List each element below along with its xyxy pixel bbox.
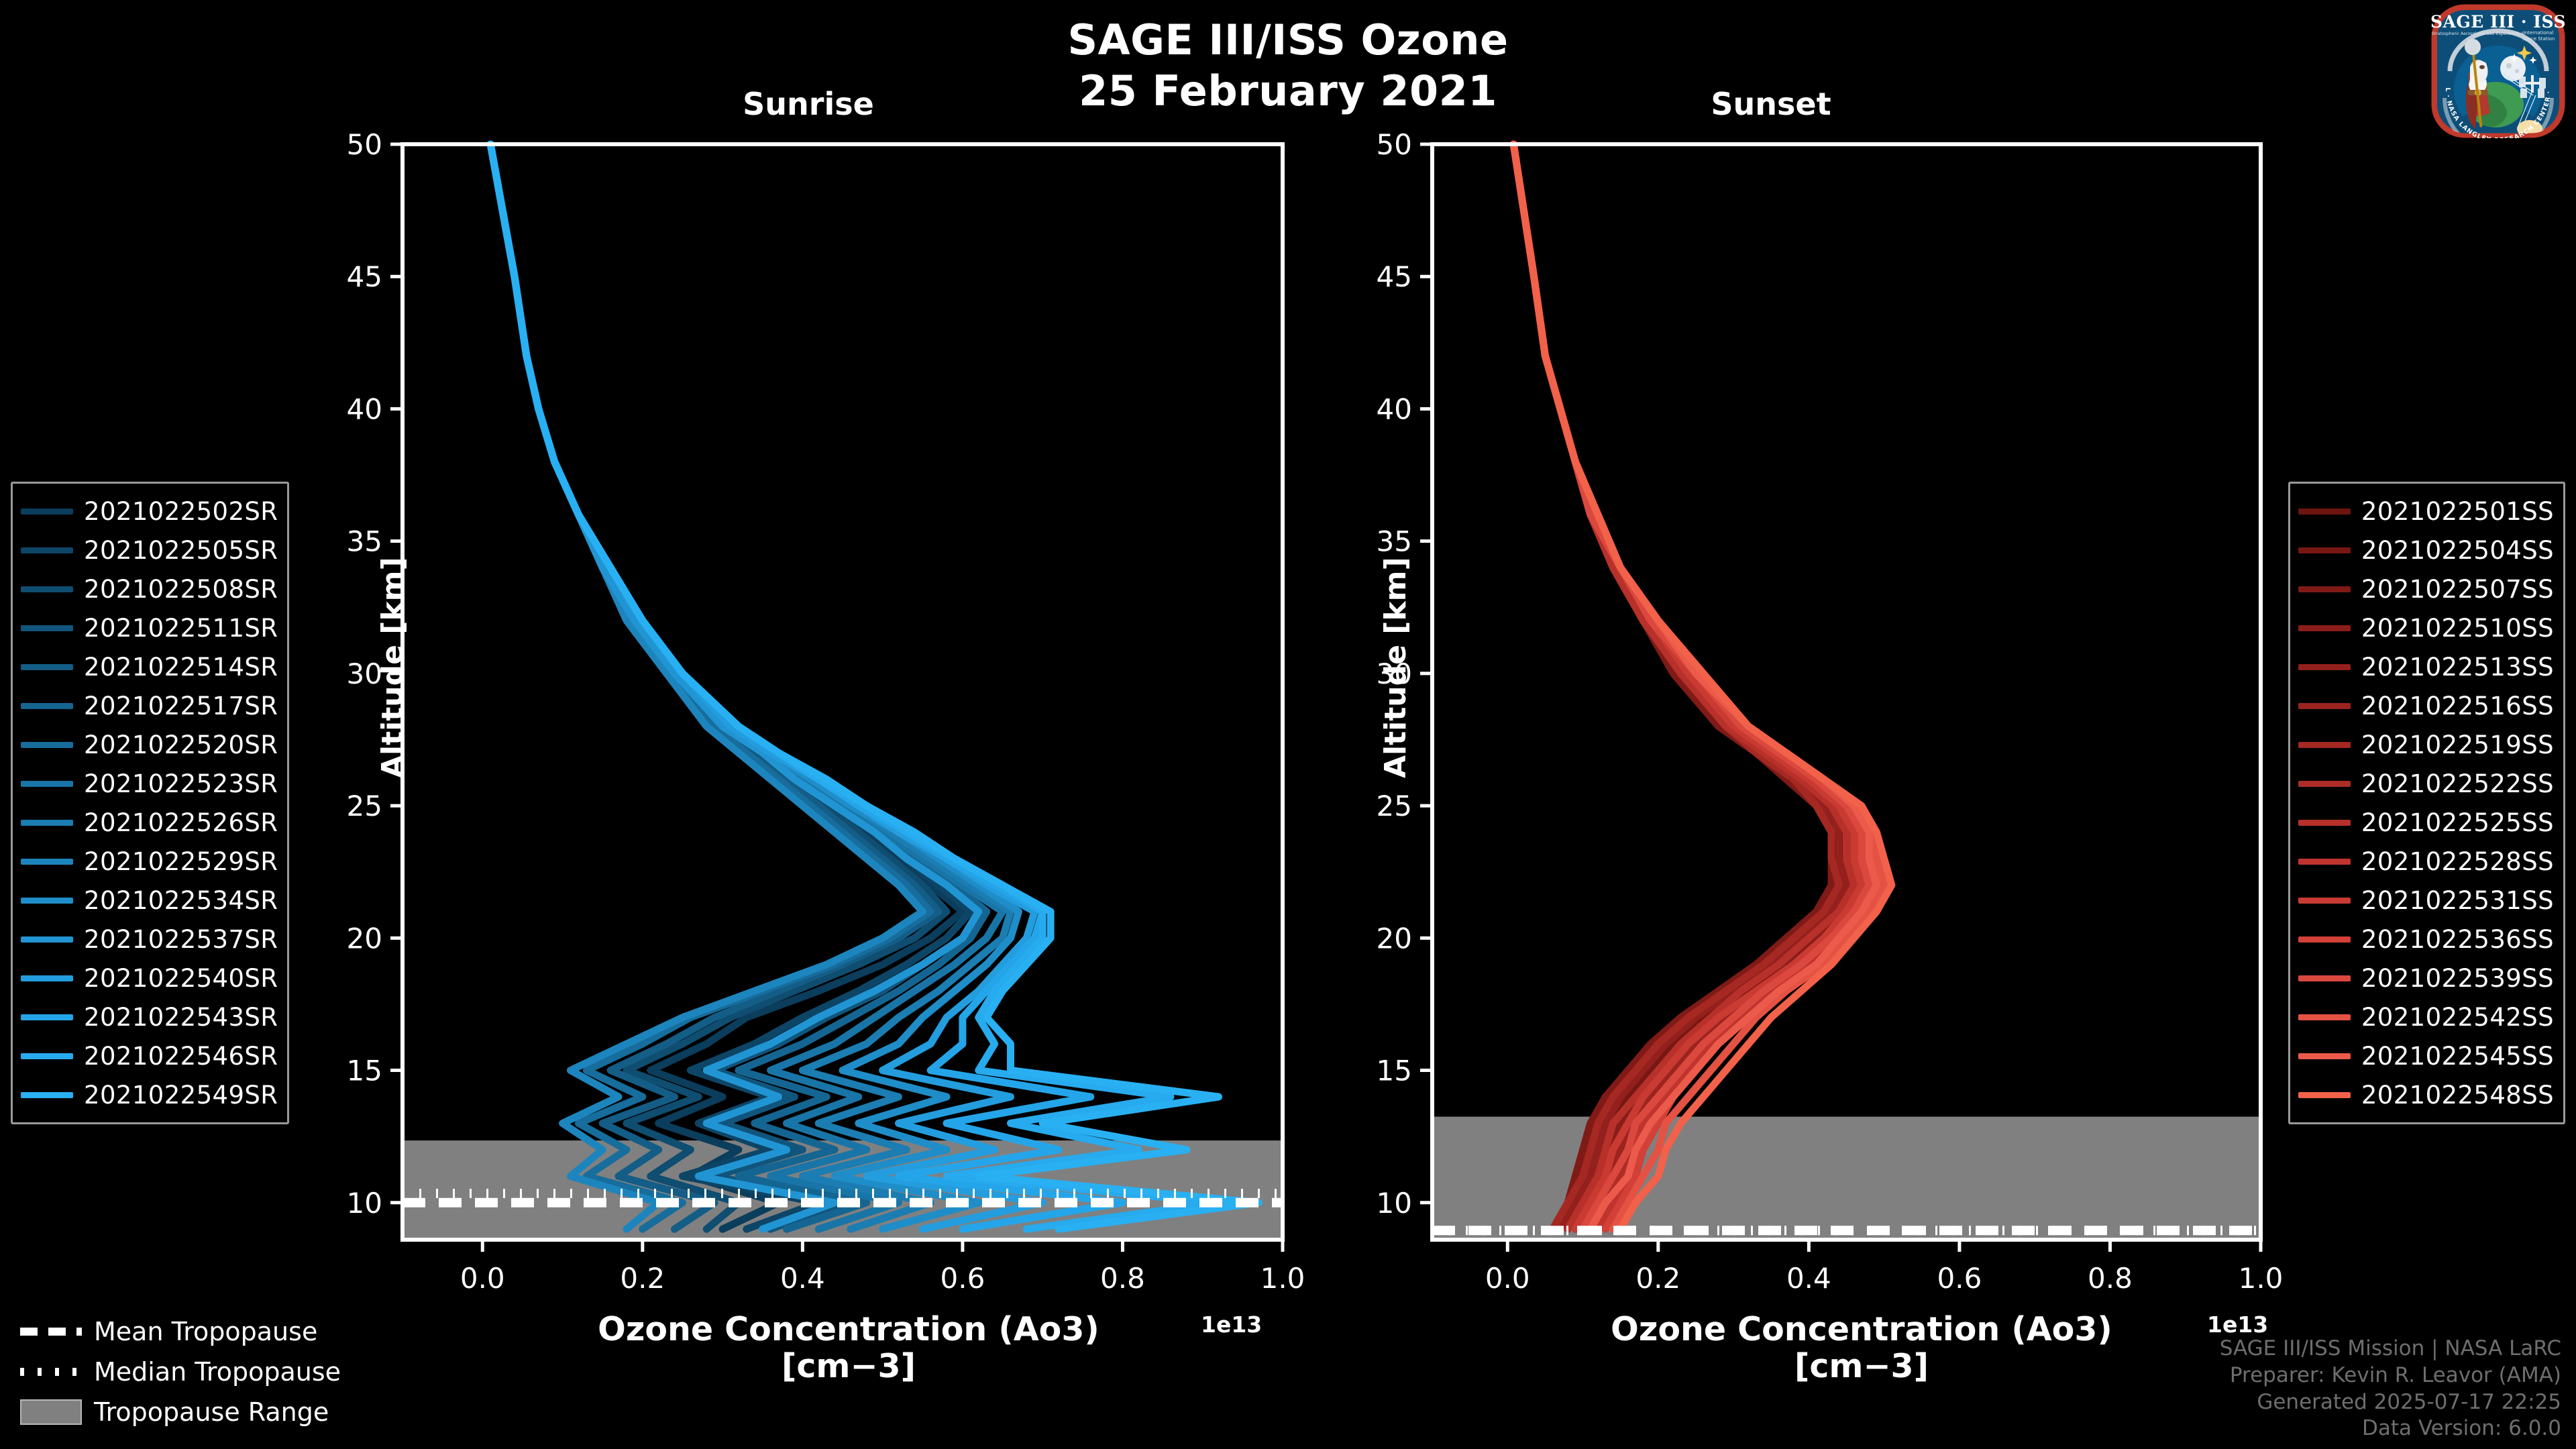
legend-color-swatch bbox=[2298, 781, 2351, 787]
y-tick-label: 15 bbox=[1377, 1055, 1412, 1087]
tropopause-legend-label: Mean Tropopause bbox=[94, 1317, 317, 1346]
legend-color-swatch bbox=[2298, 820, 2351, 826]
y-tick-label: 10 bbox=[347, 1187, 382, 1220]
legend-item-label: 2021022522SS bbox=[2361, 769, 2554, 798]
legend-color-swatch bbox=[2298, 508, 2351, 515]
x-tick-label: 0.6 bbox=[1937, 1262, 1982, 1295]
legend-sunset-item[interactable]: 2021022542SS bbox=[2298, 998, 2554, 1036]
credits-line-3: Generated 2025-07-17 22:25 bbox=[2220, 1389, 2561, 1416]
legend-item-label: 2021022549SR bbox=[84, 1081, 278, 1110]
legend-sunrise-item[interactable]: 2021022508SR bbox=[21, 570, 278, 608]
y-tick-label: 35 bbox=[347, 525, 382, 558]
legend-color-swatch bbox=[2298, 936, 2351, 943]
legend-item-label: 2021022534SR bbox=[84, 886, 278, 915]
y-tick-label: 25 bbox=[347, 790, 382, 822]
legend-sunset-item[interactable]: 2021022510SS bbox=[2298, 608, 2554, 647]
legend-item-label: 2021022511SR bbox=[84, 614, 278, 643]
patch-subtitle-right-line2: Space Station bbox=[2522, 36, 2555, 42]
patch-subtitle-left: Stratospheric Aerosol and Gas Experiment… bbox=[2432, 32, 2525, 36]
legend-color-swatch bbox=[21, 586, 73, 592]
legend-sunset-item[interactable]: 2021022531SS bbox=[2298, 881, 2554, 920]
legend-color-swatch bbox=[21, 820, 73, 826]
tropopause-range-swatch bbox=[17, 1399, 85, 1425]
legend-sunrise-item[interactable]: 2021022520SR bbox=[21, 725, 278, 764]
legend-color-swatch bbox=[2298, 547, 2351, 553]
legend-sunrise-item[interactable]: 2021022514SR bbox=[21, 647, 278, 686]
x-axis-label-right-line2: [cm−3] bbox=[1794, 1347, 1929, 1385]
legend-item-label: 2021022529SR bbox=[84, 847, 278, 876]
x-axis-offset-right: 1e13 bbox=[2207, 1311, 2268, 1338]
y-tick-label: 45 bbox=[347, 260, 382, 293]
legend-item-label: 2021022526SR bbox=[84, 808, 278, 837]
legend-sunrise-item[interactable]: 2021022505SR bbox=[21, 531, 278, 570]
legend-sunset-item[interactable]: 2021022545SS bbox=[2298, 1036, 2554, 1075]
credits-block: SAGE III/ISS Mission | NASA LaRC Prepare… bbox=[2220, 1336, 2561, 1442]
y-tick-label: 15 bbox=[347, 1055, 382, 1087]
legend-item-label: 2021022517SR bbox=[84, 692, 278, 720]
x-tick-label: 1.0 bbox=[1260, 1262, 1305, 1295]
legend-sunrise-item[interactable]: 2021022534SR bbox=[21, 881, 278, 920]
legend-sunset-item[interactable]: 2021022548SS bbox=[2298, 1075, 2554, 1114]
legend-sunrise-item[interactable]: 2021022517SR bbox=[21, 686, 278, 725]
legend-color-swatch bbox=[21, 703, 73, 709]
x-axis-label-right: Ozone Concentration (Ao3) [cm−3] bbox=[1426, 1311, 2298, 1385]
profile-line bbox=[490, 144, 979, 1229]
x-tick-label: 0.8 bbox=[1100, 1262, 1145, 1295]
legend-item-label: 2021022537SR bbox=[84, 925, 278, 954]
x-tick-label: 0.4 bbox=[1786, 1262, 1831, 1295]
legend-sunset-item[interactable]: 2021022513SS bbox=[2298, 647, 2554, 686]
legend-item-label: 2021022548SS bbox=[2361, 1081, 2554, 1110]
legend-color-swatch bbox=[21, 898, 73, 904]
legend-sunrise-item[interactable]: 2021022546SR bbox=[21, 1036, 278, 1075]
legend-sunset-item[interactable]: 2021022528SS bbox=[2298, 842, 2554, 881]
legend-sunrise-item[interactable]: 2021022543SR bbox=[21, 998, 278, 1036]
legend-color-swatch bbox=[21, 1092, 73, 1098]
legend-color-swatch bbox=[2298, 1092, 2351, 1098]
legend-sunrise-item[interactable]: 2021022549SR bbox=[21, 1075, 278, 1114]
tropopause-legend-item[interactable]: Median Tropopause bbox=[17, 1352, 341, 1392]
legend-color-swatch bbox=[21, 975, 73, 981]
x-axis-label-right-line1: Ozone Concentration (Ao3) bbox=[1611, 1310, 2112, 1348]
credits-line-1: SAGE III/ISS Mission | NASA LaRC bbox=[2220, 1336, 2561, 1362]
legend-color-swatch bbox=[21, 859, 73, 865]
legend-item-label: 2021022516SS bbox=[2361, 692, 2554, 720]
x-axis-label-left: Ozone Concentration (Ao3) [cm−3] bbox=[413, 1311, 1285, 1385]
legend-sunrise-item[interactable]: 2021022502SR bbox=[21, 492, 278, 531]
legend-item-label: 2021022519SS bbox=[2361, 731, 2554, 759]
legend-sunrise-item[interactable]: 2021022523SR bbox=[21, 764, 278, 803]
median-tropopause-swatch bbox=[17, 1365, 85, 1379]
x-tick-label: 0.6 bbox=[941, 1262, 985, 1295]
plot-frame bbox=[402, 144, 1283, 1240]
legend-sunset-item[interactable]: 2021022501SS bbox=[2298, 492, 2554, 531]
plot-panel-sunrise: 0.00.20.40.60.81.0101520253035404550 bbox=[347, 128, 1305, 1295]
legend-sunset-item[interactable]: 2021022536SS bbox=[2298, 920, 2554, 959]
x-tick-label: 0.0 bbox=[460, 1262, 505, 1295]
legend-color-swatch bbox=[2298, 1053, 2351, 1059]
legend-item-label: 2021022508SR bbox=[84, 575, 278, 604]
x-axis-offset-left: 1e13 bbox=[1201, 1311, 1262, 1338]
tropopause-legend-label: Median Tropopause bbox=[94, 1357, 341, 1387]
legend-item-label: 2021022531SS bbox=[2361, 886, 2554, 915]
y-axis-label-left: Altitude [km] bbox=[376, 557, 410, 778]
legend-item-label: 2021022523SR bbox=[84, 769, 278, 798]
legend-color-swatch bbox=[21, 664, 73, 670]
x-tick-label: 1.0 bbox=[2239, 1262, 2284, 1295]
sage-iii-iss-mission-patch-logo: SAGE III · ISS Stratospheric Aerosol and… bbox=[2431, 4, 2565, 138]
credits-line-4: Data Version: 6.0.0 bbox=[2220, 1415, 2561, 1442]
x-tick-label: 0.8 bbox=[2088, 1262, 2133, 1295]
y-tick-label: 10 bbox=[1377, 1187, 1412, 1220]
legend-color-swatch bbox=[21, 1014, 73, 1020]
y-tick-label: 25 bbox=[1377, 790, 1412, 822]
patch-subtitle-right-line1: International bbox=[2524, 30, 2554, 36]
legend-color-swatch bbox=[2298, 742, 2351, 748]
legend-item-label: 2021022546SR bbox=[84, 1042, 278, 1071]
legend-sunset-item[interactable]: 2021022519SS bbox=[2298, 725, 2554, 764]
tropopause-legend-item[interactable]: Tropopause Range bbox=[17, 1392, 341, 1432]
legend-item-label: 2021022513SS bbox=[2361, 653, 2554, 682]
legend-item-label: 2021022528SS bbox=[2361, 847, 2554, 876]
y-axis-label-right: Altitude [km] bbox=[1379, 557, 1413, 778]
patch-title: SAGE III · ISS bbox=[2431, 12, 2565, 32]
legend-color-swatch bbox=[2298, 625, 2351, 631]
y-tick-label: 50 bbox=[1377, 128, 1412, 161]
x-tick-label: 0.0 bbox=[1485, 1262, 1530, 1295]
legend-sunrise-item[interactable]: 2021022540SR bbox=[21, 959, 278, 998]
legend-sunset-item[interactable]: 2021022539SS bbox=[2298, 959, 2554, 998]
x-tick-label: 0.2 bbox=[620, 1262, 665, 1295]
legend-item-label: 2021022545SS bbox=[2361, 1042, 2554, 1071]
legend-color-swatch bbox=[21, 625, 73, 631]
legend-color-swatch bbox=[2298, 664, 2351, 670]
legend-sunrise-item[interactable]: 2021022511SR bbox=[21, 608, 278, 647]
legend-item-label: 2021022520SR bbox=[84, 731, 278, 759]
legend-item-label: 2021022502SR bbox=[84, 497, 278, 526]
legend-item-label: 2021022514SR bbox=[84, 653, 278, 682]
legend-item-label: 2021022540SR bbox=[84, 964, 278, 993]
legend-color-swatch bbox=[21, 781, 73, 787]
y-tick-label: 20 bbox=[347, 922, 382, 955]
legend-item-label: 2021022510SS bbox=[2361, 614, 2554, 643]
x-tick-label: 0.4 bbox=[780, 1262, 825, 1295]
legend-color-swatch bbox=[2298, 975, 2351, 981]
y-tick-label: 40 bbox=[1377, 392, 1412, 425]
y-tick-label: 40 bbox=[347, 392, 382, 425]
legend-sunrise-item[interactable]: 2021022526SR bbox=[21, 803, 278, 842]
legend-color-swatch bbox=[2298, 586, 2351, 592]
legend-color-swatch bbox=[2298, 1014, 2351, 1020]
legend-color-swatch bbox=[21, 508, 73, 515]
legend-color-swatch bbox=[2298, 859, 2351, 865]
plot-panel-sunset: 0.00.20.40.60.81.0101520253035404550 bbox=[1377, 128, 2284, 1295]
y-tick-label: 45 bbox=[1377, 260, 1412, 293]
tropopause-legend-label: Tropopause Range bbox=[94, 1397, 329, 1427]
legend-sunset-item[interactable]: 2021022525SS bbox=[2298, 803, 2554, 842]
legend-item-label: 2021022525SS bbox=[2361, 808, 2554, 837]
legend-sunset-item[interactable]: 2021022522SS bbox=[2298, 764, 2554, 803]
legend-sunset-item[interactable]: 2021022504SS bbox=[2298, 531, 2554, 570]
legend-item-label: 2021022504SS bbox=[2361, 536, 2554, 565]
x-tick-label: 0.2 bbox=[1635, 1262, 1680, 1295]
y-tick-label: 35 bbox=[1377, 525, 1412, 558]
credits-line-2: Preparer: Kevin R. Leavor (AMA) bbox=[2220, 1362, 2561, 1389]
legend-item-label: 2021022542SS bbox=[2361, 1003, 2554, 1032]
legend-tropopause[interactable]: Mean TropopauseMedian TropopauseTropopau… bbox=[17, 1311, 341, 1432]
legend-color-swatch bbox=[21, 936, 73, 943]
profile-line bbox=[490, 144, 1258, 1229]
legend-color-swatch bbox=[2298, 703, 2351, 709]
profile-line bbox=[490, 144, 986, 1229]
legend-sunrise-item[interactable]: 2021022529SR bbox=[21, 842, 278, 881]
tropopause-legend-item[interactable]: Mean Tropopause bbox=[17, 1311, 341, 1352]
legend-sunset[interactable]: 2021022501SS2021022504SS2021022507SS2021… bbox=[2288, 482, 2565, 1124]
legend-sunset-item[interactable]: 2021022507SS bbox=[2298, 570, 2554, 608]
x-axis-label-left-line1: Ozone Concentration (Ao3) bbox=[598, 1310, 1099, 1348]
legend-sunrise-item[interactable]: 2021022537SR bbox=[21, 920, 278, 959]
plot-frame bbox=[1432, 144, 2261, 1240]
legend-color-swatch bbox=[21, 547, 73, 553]
legend-item-label: 2021022536SS bbox=[2361, 925, 2554, 954]
legend-sunset-item[interactable]: 2021022516SS bbox=[2298, 686, 2554, 725]
legend-item-label: 2021022507SS bbox=[2361, 575, 2554, 604]
mean-tropopause-swatch bbox=[17, 1325, 85, 1338]
x-axis-label-left-line2: [cm−3] bbox=[782, 1347, 916, 1385]
legend-item-label: 2021022501SS bbox=[2361, 497, 2554, 526]
legend-color-swatch bbox=[2298, 898, 2351, 904]
legend-color-swatch bbox=[21, 1053, 73, 1059]
legend-item-label: 2021022543SR bbox=[84, 1003, 278, 1032]
legend-item-label: 2021022505SR bbox=[84, 536, 278, 565]
y-tick-label: 20 bbox=[1377, 922, 1412, 955]
profile-line bbox=[490, 144, 979, 1229]
legend-item-label: 2021022539SS bbox=[2361, 964, 2554, 993]
legend-sunrise[interactable]: 2021022502SR2021022505SR2021022508SR2021… bbox=[11, 482, 289, 1124]
y-tick-label: 50 bbox=[347, 128, 382, 161]
legend-color-swatch bbox=[21, 742, 73, 748]
